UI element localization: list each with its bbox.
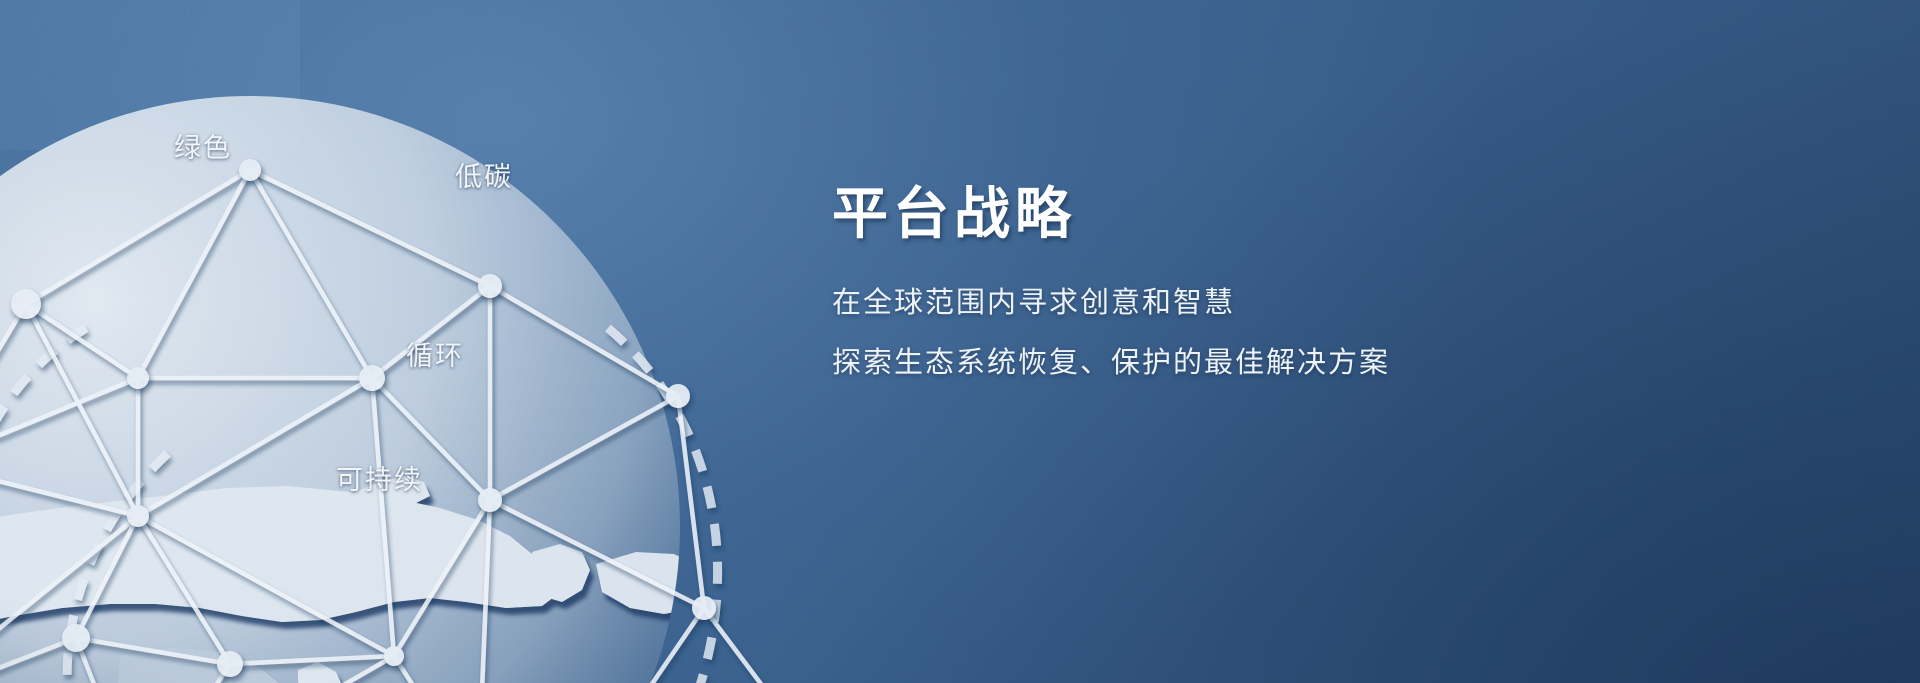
node xyxy=(359,365,385,391)
node xyxy=(127,505,149,527)
node xyxy=(11,289,41,319)
node xyxy=(478,488,502,512)
node xyxy=(666,384,690,408)
node xyxy=(384,646,404,666)
node xyxy=(478,274,502,298)
node xyxy=(692,596,716,620)
node xyxy=(217,651,243,677)
keyword-label-green: 绿色 xyxy=(174,126,232,165)
keyword-label-circular: 循环 xyxy=(406,334,464,373)
hero-copy-block: 平台战略 在全球范围内寻求创意和智慧 探索生态系统恢复、保护的最佳解决方案 xyxy=(832,186,1532,377)
hero-subtitle-line-2: 探索生态系统恢复、保护的最佳解决方案 xyxy=(832,348,1532,377)
node xyxy=(62,624,90,652)
page-title: 平台战略 xyxy=(832,186,1532,245)
globe-network-graphic xyxy=(0,96,850,683)
node xyxy=(127,367,149,389)
keyword-label-sustainable: 可持续 xyxy=(336,458,423,497)
keyword-label-low-carbon: 低碳 xyxy=(455,155,513,194)
node xyxy=(239,159,261,181)
hero-banner: 绿色 低碳 循环 可持续 平台战略 在全球范围内寻求创意和智慧 探索生态系统恢复… xyxy=(0,0,1920,683)
hero-subtitle-line-1: 在全球范围内寻求创意和智慧 xyxy=(832,288,1532,317)
